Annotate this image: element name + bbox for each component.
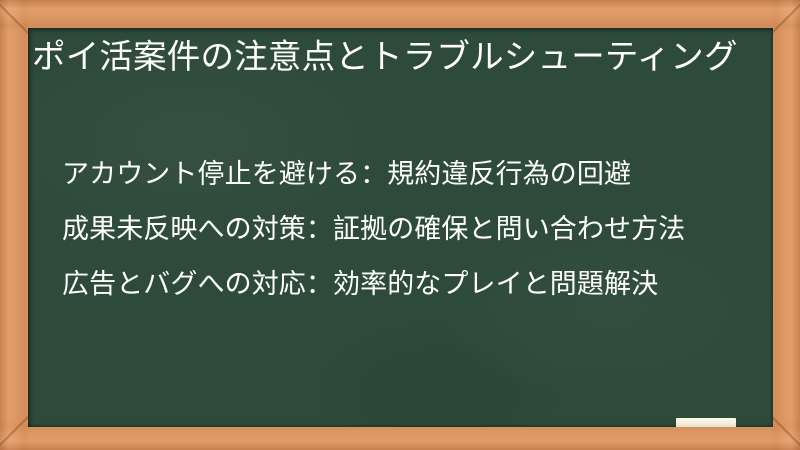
chalk-stick-icon <box>676 418 736 427</box>
slide-title: ポイ活案件の注意点とトラブルシューティング <box>32 36 758 77</box>
frame-miter-top-right <box>770 3 800 36</box>
blackboard-slide: ポイ活案件の注意点とトラブルシューティング アカウント停止を避ける：規約違反行為… <box>0 0 800 450</box>
bullet-item-1: アカウント停止を避ける：規約違反行為の回避 <box>62 155 762 195</box>
chalkboard-surface: ポイ活案件の注意点とトラブルシューティング アカウント停止を避ける：規約違反行為… <box>28 28 773 427</box>
frame-miter-top-left <box>0 3 30 36</box>
frame-miter-bottom-left <box>0 415 30 448</box>
bullet-list: アカウント停止を避ける：規約違反行為の回避 成果未反映への対策：証拠の確保と問い… <box>62 155 762 305</box>
frame-miter-bottom-right <box>770 415 800 448</box>
bullet-item-2: 成果未反映への対策：証拠の確保と問い合わせ方法 <box>62 210 762 250</box>
bullet-item-3: 広告とバグへの対応：効率的なプレイと問題解決 <box>62 265 762 305</box>
